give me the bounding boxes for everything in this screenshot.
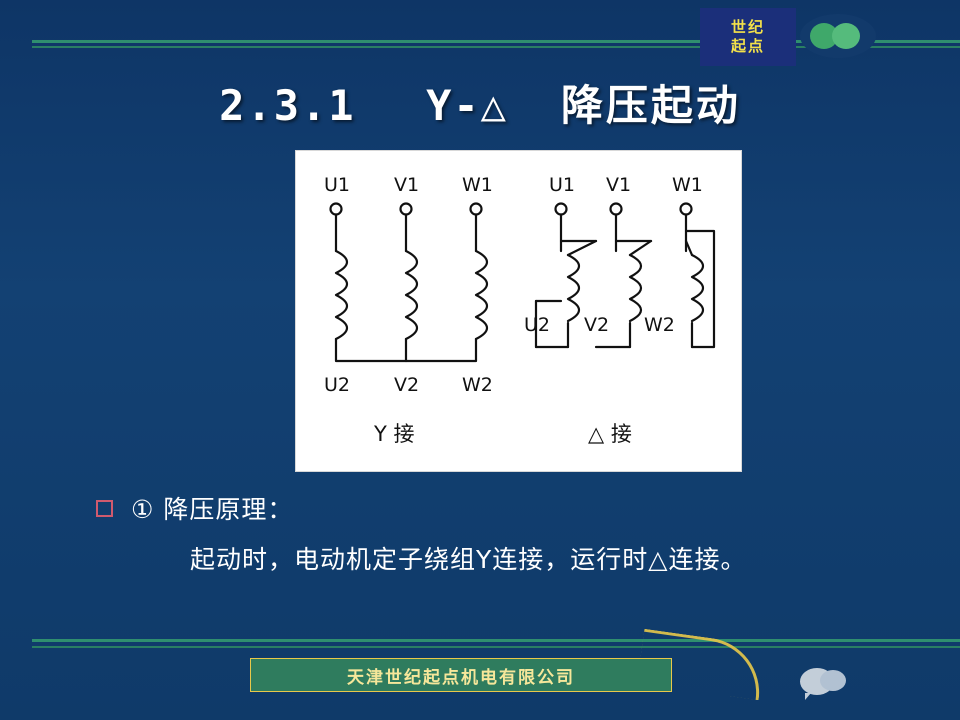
bullet-principle-label: ① 降压原理： <box>131 490 293 526</box>
logo-line2: 起点 <box>731 37 765 56</box>
slide-root: 世纪 起点 2.3.1 Y-△ 降压起动 <box>0 0 960 720</box>
wechat-watermark-icon <box>800 660 918 702</box>
logo-circle-right <box>832 23 860 49</box>
label-left-w1: W1 <box>462 174 493 196</box>
page-title: 2.3.1 Y-△ 降压起动 <box>0 72 960 133</box>
label-right-u2: U2 <box>524 314 550 336</box>
wechat-bubble-secondary <box>820 670 846 691</box>
label-right-w1: W1 <box>672 174 703 196</box>
circuit-diagram-svg: U1 V1 W1 U2 V2 W2 U1 V1 W1 U2 V2 W2 Y 接 … <box>296 151 741 471</box>
label-left-v2: V2 <box>394 374 419 396</box>
label-right-v1: V1 <box>606 174 631 196</box>
caption-star: Y 接 <box>373 422 415 446</box>
square-bullet-icon <box>96 500 113 517</box>
logo-line1: 世纪 <box>731 18 765 37</box>
circuit-diagram-figure: U1 V1 W1 U2 V2 W2 U1 V1 W1 U2 V2 W2 Y 接 … <box>295 150 742 472</box>
caption-delta: △ 接 <box>588 422 632 446</box>
footer-company-name: 天津世纪起点机电有限公司 <box>347 663 575 688</box>
title-number: 2.3.1 <box>219 81 355 130</box>
footer-company-band: 天津世纪起点机电有限公司 <box>250 658 672 692</box>
bottom-divider-line <box>32 639 960 642</box>
label-left-w2: W2 <box>462 374 493 396</box>
label-left-v1: V1 <box>394 174 419 196</box>
body-paragraph: 起动时，电动机定子绕组Y连接，运行时△连接。 <box>190 540 747 576</box>
label-left-u2: U2 <box>324 374 350 396</box>
bullet-principle: ① 降压原理： <box>96 490 293 526</box>
title-connection-symbol: Y-△ <box>426 81 508 130</box>
label-right-w2: W2 <box>644 314 675 336</box>
bottom-divider-line-secondary <box>32 646 960 648</box>
label-right-u1: U1 <box>549 174 575 196</box>
title-text: 降压起动 <box>561 81 741 130</box>
label-right-v2: V2 <box>584 314 609 336</box>
company-logo: 世纪 起点 <box>700 8 796 66</box>
logo-ellipse-icon <box>800 14 876 58</box>
label-left-u1: U1 <box>324 174 350 196</box>
